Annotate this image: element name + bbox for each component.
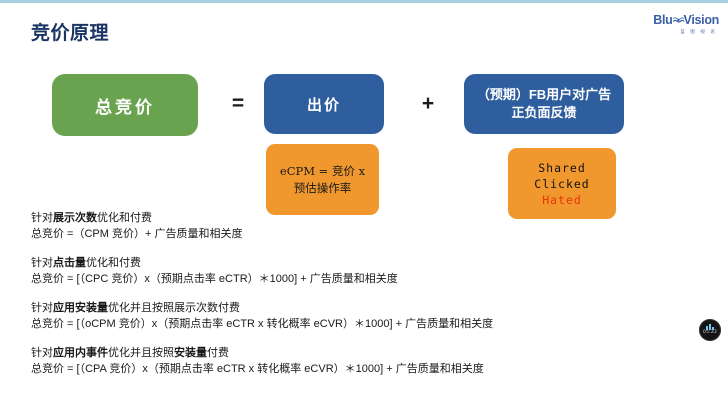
diagram-box-feedback-text: （预期）FB用户对广告正负面反馈 <box>477 86 611 122</box>
formula-heading-prefix: 针对 <box>31 257 53 269</box>
brand-name-part2: Vision <box>684 13 719 27</box>
diagram-box-ecpm-text: eCPM = 竞价 x预估操作率 <box>280 163 365 197</box>
brand-logo: Blu Vision 蓝 图 视 讯 <box>641 14 719 40</box>
formula-heading-suffix: 优化和付费 <box>86 257 141 269</box>
brand-logo-subtitle: 蓝 图 视 讯 <box>641 28 717 35</box>
diagram-box-feedback: （预期）FB用户对广告正负面反馈 <box>464 74 624 134</box>
diagram-box-total-bid-label: 总竞价 <box>95 93 155 118</box>
diagram-box-ecpm-line1: eCPM = 竞价 x <box>280 164 365 178</box>
formula-heading: 针对展示次数优化和付费 <box>31 210 703 226</box>
video-player-badge[interactable]: 05:22 <box>699 319 721 341</box>
formula-heading-suffix: 优化并且按照展示次数付费 <box>108 302 240 314</box>
top-accent-rule <box>0 0 728 3</box>
formula-heading: 针对应用内事件优化并且按照安装量付费 <box>31 345 703 361</box>
wave-eye-icon <box>673 15 684 24</box>
diagram-box-user-signals: SharedClickedHated <box>508 148 616 219</box>
brand-name-part1: Blu <box>653 13 672 27</box>
formula-heading-suffix-2: 付费 <box>207 347 229 359</box>
brand-logo-wordmark: Blu Vision <box>641 14 719 27</box>
signal-shared: Shared <box>538 161 586 175</box>
signal-hated: Hated <box>542 193 582 207</box>
formula-heading: 针对应用安装量优化并且按照展示次数付费 <box>31 300 703 316</box>
formula-body: 总竞价 =（CPM 竞价）+ 广告质量和相关度 <box>31 226 703 243</box>
formula-heading-emphasis: 点击量 <box>53 257 86 269</box>
formula-body: 总竞价 = [（oCPM 竞价）x（预期点击率 eCTR x 转化概率 eCVR… <box>31 316 703 333</box>
formula-heading-emphasis: 应用安装量 <box>53 302 108 314</box>
diagram-box-feedback-line1: （预期）FB用户对广告 <box>477 87 611 102</box>
diagram-box-bid: 出价 <box>264 74 384 134</box>
slide-canvas: 竞价原理 Blu Vision 蓝 图 视 讯 总竞价 = 出价 + （预期）F… <box>0 0 728 405</box>
formula-heading-emphasis: 展示次数 <box>53 212 97 224</box>
formula-heading-suffix: 优化和付费 <box>97 212 152 224</box>
formula-block-app-installs: 针对应用安装量优化并且按照展示次数付费 总竞价 = [（oCPM 竞价）x（预期… <box>31 300 703 333</box>
formula-heading-prefix: 针对 <box>31 302 53 314</box>
formula-block-in-app-events: 针对应用内事件优化并且按照安装量付费 总竞价 = [（CPA 竞价）x（预期点击… <box>31 345 703 378</box>
formula-list: 针对展示次数优化和付费 总竞价 =（CPM 竞价）+ 广告质量和相关度 针对点击… <box>31 210 703 390</box>
formula-block-clicks: 针对点击量优化和付费 总竞价 = [（CPC 竞价）x（预期点击率 eCTR）＊… <box>31 255 703 288</box>
formula-block-impressions: 针对展示次数优化和付费 总竞价 =（CPM 竞价）+ 广告质量和相关度 <box>31 210 703 243</box>
diagram-box-total-bid: 总竞价 <box>52 74 198 136</box>
formula-heading-emphasis-2: 安装量 <box>174 347 207 359</box>
diagram-box-ecpm-line2: 预估操作率 <box>294 181 352 195</box>
signal-clicked: Clicked <box>534 177 589 191</box>
formula-heading-prefix: 针对 <box>31 347 53 359</box>
operator-plus: + <box>415 92 441 116</box>
formula-heading: 针对点击量优化和付费 <box>31 255 703 271</box>
formula-heading-prefix: 针对 <box>31 212 53 224</box>
formula-body: 总竞价 = [（CPA 竞价）x（预期点击率 eCTR x 转化概率 eCVR）… <box>31 361 703 378</box>
page-title: 竞价原理 <box>31 18 109 45</box>
diagram-box-feedback-line2: 正负面反馈 <box>511 105 576 120</box>
operator-equals: = <box>225 92 251 116</box>
diagram-box-ecpm-formula: eCPM = 竞价 x预估操作率 <box>266 144 379 215</box>
player-timestamp: 05:22 <box>703 330 717 336</box>
formula-heading-emphasis: 应用内事件 <box>53 347 108 359</box>
formula-heading-suffix: 优化并且按照 <box>108 347 174 359</box>
diagram-box-bid-label: 出价 <box>307 94 341 115</box>
diagram-box-signals-text: SharedClickedHated <box>534 160 589 208</box>
formula-body: 总竞价 = [（CPC 竞价）x（预期点击率 eCTR）＊1000] + 广告质… <box>31 271 703 288</box>
